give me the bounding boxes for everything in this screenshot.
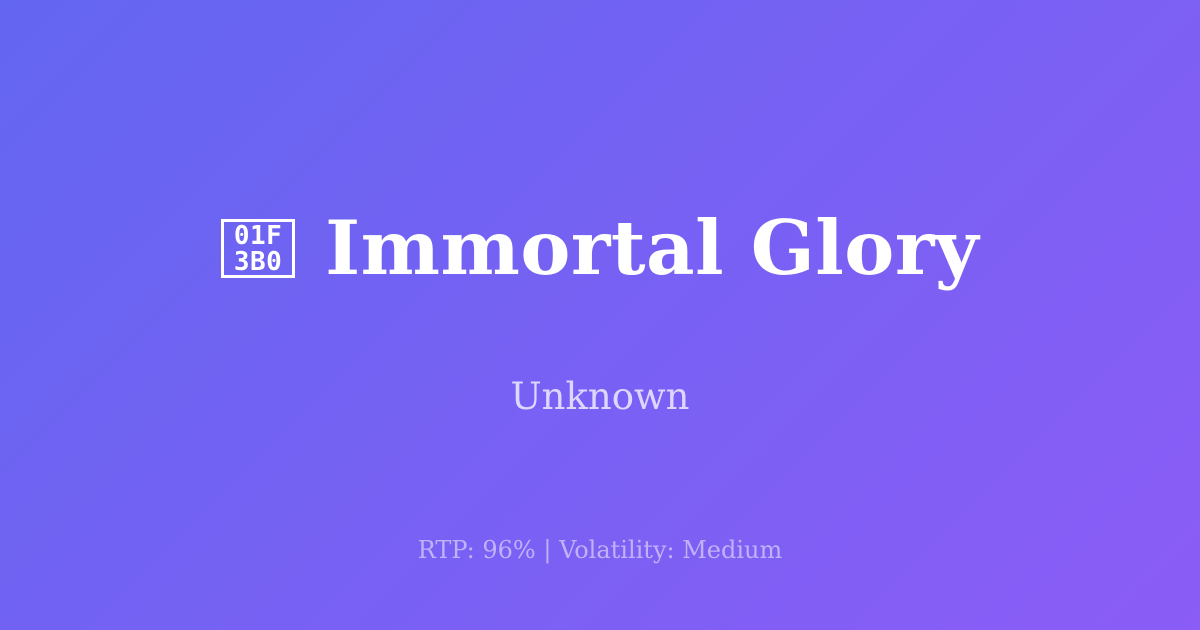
page-title: Immortal Glory xyxy=(325,211,979,286)
game-provider-subtitle: Unknown xyxy=(510,378,689,415)
title-row: 01F 3B0 Immortal Glory xyxy=(221,161,979,337)
game-preview-card: 01F 3B0 Immortal Glory Unknown RTP: 96% … xyxy=(0,0,1200,630)
slot-machine-icon-codepoint-low: 3B0 xyxy=(234,249,282,275)
game-stats-line: RTP: 96% | Volatility: Medium xyxy=(0,538,1200,562)
slot-machine-icon-codepoint-high: 01F xyxy=(234,223,282,249)
slot-machine-icon: 01F 3B0 xyxy=(221,219,295,278)
